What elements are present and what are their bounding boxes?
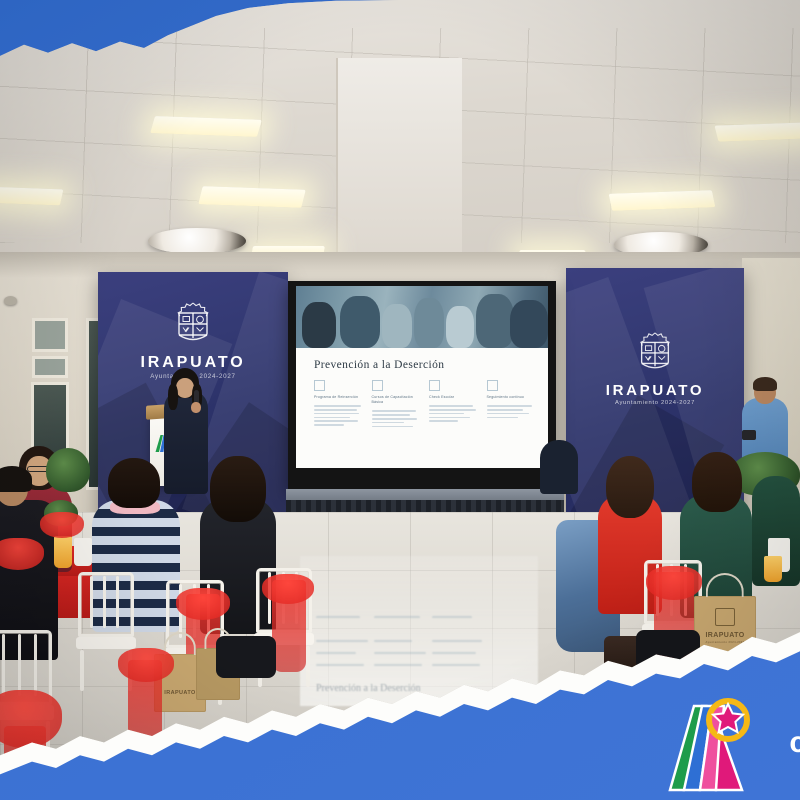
slide-column: Check Escolar [429, 380, 479, 429]
slide-column-heading: Cursos de Capacitación Básica [372, 395, 422, 405]
standing-man-hair [753, 377, 777, 391]
slide-column-body [314, 405, 364, 426]
ceiling-light-panel [609, 190, 716, 211]
slide-title: Prevención a la Deserción [314, 359, 444, 371]
chair-bow [176, 588, 230, 620]
people-icon [314, 380, 325, 391]
slide-column-body [487, 405, 537, 418]
document-icon [372, 380, 383, 391]
attendee-hair [0, 466, 32, 492]
banner-left-title: IRAPUATO [140, 354, 245, 372]
screenshot-root: IRAPUATO Ayuntamiento 2024-2027 [0, 0, 800, 800]
attendee-hair [606, 456, 654, 518]
slide-column-heading: Programa de Reinserción [314, 395, 364, 400]
ceiling-speaker [148, 228, 246, 254]
window-transom [32, 318, 68, 352]
a-star-logo-watermark [668, 698, 752, 794]
slide-header-photo [296, 286, 548, 348]
decorative-plant [46, 448, 90, 492]
slide-photo-figure [414, 298, 444, 348]
slide-column: Cursos de Capacitación Básica [372, 380, 422, 429]
tote-brand-label: IRAPUATO [694, 632, 756, 639]
chair-slat [90, 576, 93, 628]
ceiling-soffit [336, 58, 462, 273]
phone-icon [742, 430, 756, 440]
irapuato-coat-of-arms-icon [171, 300, 215, 346]
juice-glass [764, 556, 782, 582]
chart-icon [487, 380, 498, 391]
slide-column: Seguimiento continuo [487, 380, 537, 429]
chair-slat [103, 576, 106, 628]
chair-leg [80, 650, 84, 690]
watermark-text: c [789, 726, 800, 760]
attendee-hair [108, 458, 160, 508]
chair-bow [262, 574, 314, 604]
slide-photo-figure [382, 304, 412, 348]
attendee-hair [692, 452, 742, 512]
slide-photo-figure [340, 296, 380, 348]
drink-cup [74, 538, 92, 566]
reflection-title: Prevención a la Deserción [316, 683, 421, 694]
slide-photo-figure [446, 306, 474, 348]
banner-right-subtitle: Ayuntamiento 2024-2027 [615, 400, 695, 406]
slide-column-heading: Seguimiento continuo [487, 395, 537, 400]
handshake-icon [429, 380, 440, 391]
chair-slat [18, 634, 21, 696]
attendee-legs [216, 636, 276, 678]
tote-emblem-icon [715, 608, 735, 626]
banner-right-title: IRAPUATO [606, 382, 705, 399]
slide-column-body [372, 410, 422, 427]
soffit-edge [336, 58, 338, 273]
chair-bow [118, 648, 174, 682]
irapuato-coat-of-arms-icon [634, 330, 676, 374]
attendee-hair [210, 456, 266, 522]
chair-slat [34, 634, 37, 696]
slide-column-body [429, 405, 479, 422]
watermark-logo: c [678, 690, 800, 794]
window-transom [32, 356, 68, 378]
slide-photo-figure [302, 302, 336, 348]
chair-back [78, 572, 134, 637]
chair-seat [76, 637, 135, 649]
seated-attendee [540, 440, 578, 494]
juice-glass [54, 536, 72, 568]
slide-column-heading: Check Escolar [429, 395, 479, 400]
table-floral-red [40, 512, 84, 538]
slide-column: Programa de Reinserción [314, 380, 364, 429]
chair-leg [306, 646, 310, 686]
presenter-hair [168, 384, 178, 410]
chair-slat [116, 576, 119, 628]
chair-bow [646, 566, 702, 600]
security-camera-icon [4, 296, 17, 305]
slide-photo-figure [510, 300, 548, 348]
ceiling-light-panel [198, 186, 306, 208]
chair-slat [2, 634, 5, 696]
presentation-slide: Prevención a la Deserción Programa de Re… [296, 286, 548, 468]
slide-photo-figure [476, 294, 514, 348]
floor-reflection: Prevención a la Deserción [300, 556, 538, 706]
ceiling-light-panel [714, 122, 800, 141]
presenter-hand [191, 402, 201, 413]
ceiling-light-panel [0, 187, 63, 206]
slide-columns: Programa de Reinserción Cursos de Cap [314, 380, 536, 429]
